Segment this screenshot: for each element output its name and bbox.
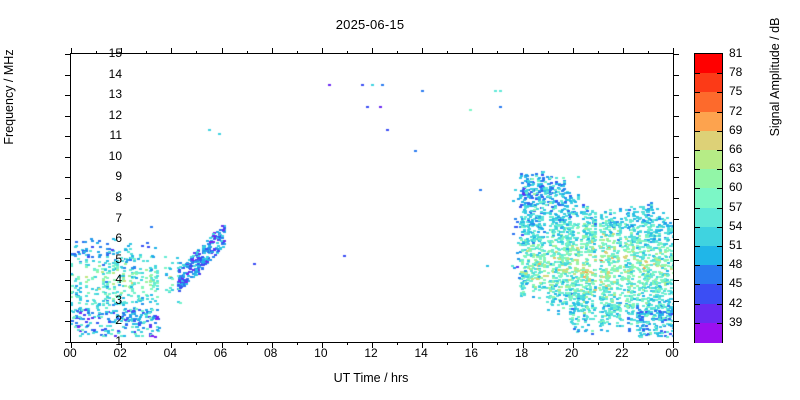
x-axis-tick-mirror <box>573 48 574 54</box>
colorbar-segment <box>695 112 722 132</box>
y-axis-tick-label: 15 <box>82 47 122 59</box>
x-axis-tick-mirror <box>222 48 223 54</box>
y-axis-tick <box>65 260 71 261</box>
x-axis-tick-label: 12 <box>351 347 391 359</box>
y-axis-tick-mirror <box>673 136 679 137</box>
colorbar-tick <box>695 112 700 113</box>
x-axis-tick-label: 14 <box>401 347 441 359</box>
colorbar-tick <box>695 208 700 209</box>
colorbar-tick-label: 69 <box>729 124 761 136</box>
colorbar-tick <box>717 150 722 151</box>
x-axis-minor-tick-mirror <box>347 51 348 54</box>
colorbar-segment <box>695 131 722 151</box>
x-axis-minor-tick <box>648 342 649 345</box>
colorbar-tick <box>717 265 722 266</box>
y-axis-tick <box>65 301 71 302</box>
x-axis-minor-tick <box>598 342 599 345</box>
x-axis-minor-tick-mirror <box>598 51 599 54</box>
x-axis-minor-tick <box>497 342 498 345</box>
y-axis-tick-mirror <box>673 301 679 302</box>
colorbar-segment <box>695 188 722 208</box>
colorbar-tick <box>695 92 700 93</box>
x-axis-minor-tick <box>146 342 147 345</box>
colorbar-tick-label: 45 <box>729 277 761 289</box>
colorbar-tick <box>717 227 722 228</box>
colorbar-segment <box>695 208 722 228</box>
colorbar-tick <box>717 169 722 170</box>
y-axis-tick-mirror <box>673 280 679 281</box>
colorbar-tick <box>695 131 700 132</box>
colorbar-tick <box>695 188 700 189</box>
y-axis-tick-mirror <box>673 116 679 117</box>
x-axis-tick-mirror <box>623 48 624 54</box>
colorbar-tick <box>695 265 700 266</box>
colorbar-tick-label: 81 <box>729 47 761 59</box>
colorbar-tick <box>695 150 700 151</box>
colorbar-segment <box>695 246 722 266</box>
y-axis-tick-label: 8 <box>82 191 122 203</box>
x-axis-tick-label: 06 <box>201 347 241 359</box>
colorbar-tick-label: 54 <box>729 220 761 232</box>
y-axis-tick-label: 2 <box>82 314 122 326</box>
y-axis-tick <box>65 136 71 137</box>
colorbar-tick-label: 51 <box>729 239 761 251</box>
x-axis-minor-tick-mirror <box>497 51 498 54</box>
y-axis-tick-label: 10 <box>82 150 122 162</box>
x-axis-minor-tick-mirror <box>447 51 448 54</box>
colorbar-segment <box>695 265 722 285</box>
y-axis-tick-mirror <box>673 198 679 199</box>
y-axis-tick-label: 11 <box>82 129 122 141</box>
colorbar-segment <box>695 284 722 304</box>
colorbar-tick-label: 39 <box>729 316 761 328</box>
x-axis-tick-mirror <box>372 48 373 54</box>
y-axis-tick <box>65 321 71 322</box>
colorbar-tick <box>695 227 700 228</box>
y-axis-tick-mirror <box>673 95 679 96</box>
x-axis-minor-tick-mirror <box>297 51 298 54</box>
x-axis-minor-tick <box>397 342 398 345</box>
colorbar-segment <box>695 150 722 170</box>
x-axis-tick-label: 20 <box>552 347 592 359</box>
y-axis-tick <box>65 116 71 117</box>
colorbar-tick <box>695 169 700 170</box>
colorbar-segment <box>695 227 722 247</box>
x-axis-minor-tick-mirror <box>146 51 147 54</box>
y-axis-tick-label: 12 <box>82 109 122 121</box>
y-axis-tick-mirror <box>673 321 679 322</box>
y-axis-tick-label: 9 <box>82 170 122 182</box>
colorbar-segment <box>695 92 722 112</box>
y-axis-tick-mirror <box>673 177 679 178</box>
colorbar-segment <box>695 323 722 343</box>
colorbar-tick <box>695 73 700 74</box>
x-axis-tick-label: 00 <box>652 347 692 359</box>
x-axis-tick-mirror <box>673 48 674 54</box>
x-axis-minor-tick-mirror <box>196 51 197 54</box>
x-axis-tick-label: 02 <box>100 347 140 359</box>
x-axis-tick-mirror <box>422 48 423 54</box>
x-axis-minor-tick-mirror <box>397 51 398 54</box>
y-axis-tick <box>65 54 71 55</box>
y-axis-tick-label: 5 <box>82 253 122 265</box>
colorbar-tick-label: 42 <box>729 297 761 309</box>
colorbar-tick <box>695 323 700 324</box>
colorbar-tick <box>717 73 722 74</box>
plot-axes-frame <box>70 53 674 343</box>
y-axis-tick-mirror <box>673 157 679 158</box>
colorbar-tick-label: 75 <box>729 85 761 97</box>
y-axis-tick-label: 6 <box>82 232 122 244</box>
colorbar-gradient <box>695 54 722 342</box>
colorbar-tick-label: 60 <box>729 181 761 193</box>
y-axis-tick-label: 3 <box>82 294 122 306</box>
page-title: 2025-06-15 <box>0 17 740 32</box>
colorbar-tick <box>717 131 722 132</box>
y-axis-tick-mirror <box>673 260 679 261</box>
y-axis-tick-label: 14 <box>82 68 122 80</box>
y-axis-tick-label: 13 <box>82 88 122 100</box>
x-axis-minor-tick <box>247 342 248 345</box>
colorbar-tick <box>717 112 722 113</box>
colorbar-title: Signal Amplitude / dB <box>768 0 782 197</box>
colorbar-tick-label: 66 <box>729 143 761 155</box>
x-axis-minor-tick-mirror <box>247 51 248 54</box>
x-axis-minor-tick <box>347 342 348 345</box>
colorbar-segment <box>695 54 722 74</box>
colorbar-tick-label: 63 <box>729 162 761 174</box>
colorbar-tick <box>695 284 700 285</box>
colorbar-tick <box>717 92 722 93</box>
y-axis-tick <box>65 219 71 220</box>
colorbar-tick <box>717 188 722 189</box>
colorbar-tick-label: 72 <box>729 105 761 117</box>
x-axis-minor-tick-mirror <box>648 51 649 54</box>
x-axis-tick-mirror <box>71 48 72 54</box>
colorbar-tick <box>695 246 700 247</box>
y-axis-tick <box>65 239 71 240</box>
x-axis-minor-tick <box>297 342 298 345</box>
x-axis-minor-tick-mirror <box>548 51 549 54</box>
x-axis-title: UT Time / hrs <box>70 371 672 385</box>
y-axis-title: Frequency / MHz <box>2 0 16 197</box>
colorbar <box>694 53 723 343</box>
y-axis-tick <box>65 198 71 199</box>
y-axis-tick <box>65 75 71 76</box>
x-axis-tick-mirror <box>322 48 323 54</box>
y-axis-tick-mirror <box>673 75 679 76</box>
x-axis-tick-mirror <box>472 48 473 54</box>
x-axis-tick-label: 04 <box>150 347 190 359</box>
colorbar-tick <box>717 304 722 305</box>
colorbar-tick <box>717 208 722 209</box>
x-axis-tick-mirror <box>272 48 273 54</box>
ionogram-figure: 2025-06-15 123456789101112131415 0002040… <box>0 0 800 400</box>
y-axis-tick-mirror <box>673 219 679 220</box>
y-axis-tick <box>65 157 71 158</box>
x-axis-tick-mirror <box>171 48 172 54</box>
colorbar-tick <box>717 284 722 285</box>
y-axis-tick <box>65 280 71 281</box>
colorbar-tick-label: 48 <box>729 258 761 270</box>
colorbar-segment <box>695 73 722 93</box>
x-axis-tick-label: 08 <box>251 347 291 359</box>
y-axis-tick-mirror <box>673 239 679 240</box>
x-axis-tick-label: 18 <box>502 347 542 359</box>
colorbar-tick <box>695 304 700 305</box>
colorbar-tick <box>717 246 722 247</box>
colorbar-tick <box>717 323 722 324</box>
y-axis-tick-mirror <box>673 54 679 55</box>
colorbar-segment <box>695 169 722 189</box>
colorbar-segment <box>695 304 722 324</box>
y-axis-tick-label: 4 <box>82 273 122 285</box>
y-axis-tick <box>65 95 71 96</box>
scatter-data-layer <box>71 54 673 342</box>
x-axis-tick-label: 22 <box>602 347 642 359</box>
x-axis-minor-tick <box>447 342 448 345</box>
y-axis-tick <box>65 177 71 178</box>
colorbar-tick-label: 78 <box>729 66 761 78</box>
colorbar-tick-label: 57 <box>729 201 761 213</box>
y-axis-tick-label: 7 <box>82 212 122 224</box>
x-axis-tick-mirror <box>523 48 524 54</box>
x-axis-tick-label: 10 <box>301 347 341 359</box>
x-axis-tick-label: 00 <box>50 347 90 359</box>
x-axis-minor-tick <box>196 342 197 345</box>
x-axis-minor-tick <box>548 342 549 345</box>
x-axis-tick-label: 16 <box>451 347 491 359</box>
